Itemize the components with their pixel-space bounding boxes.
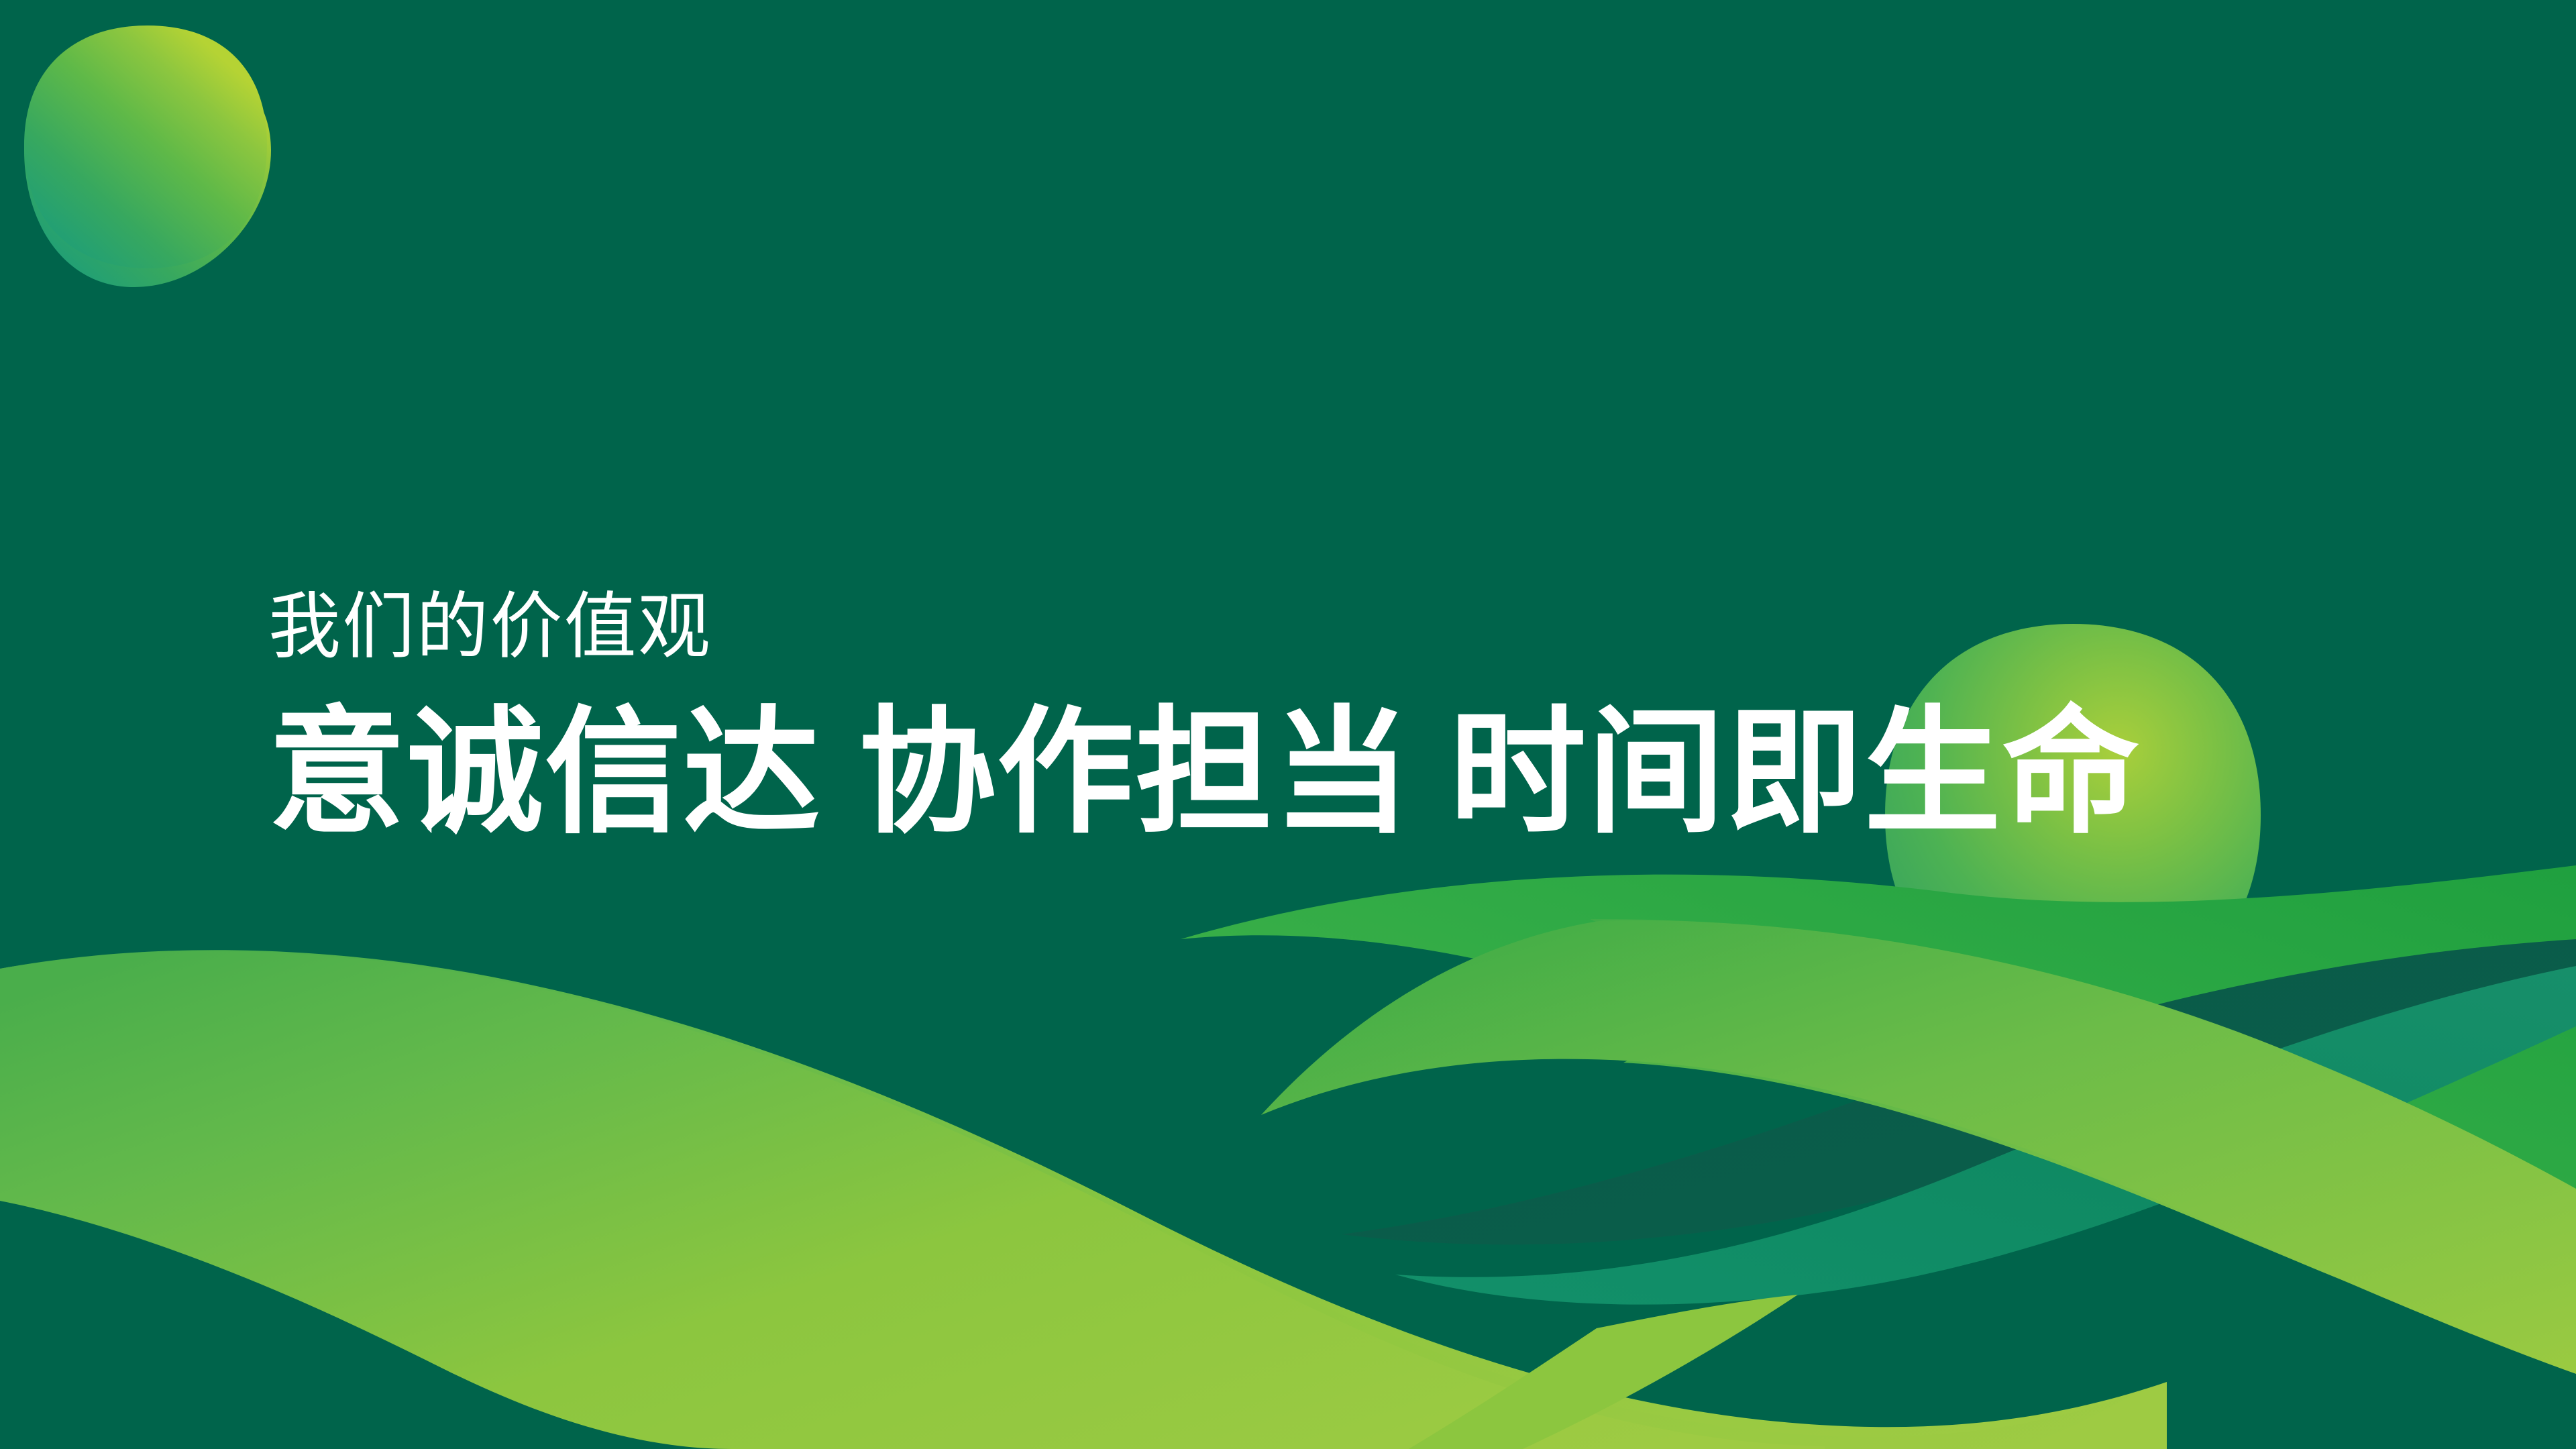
squircle-blob-fill [24,25,267,268]
slide-canvas: 我们的价值观 意诚信达协作担当时间即生命 [0,0,2576,1449]
headline-segment-1: 意诚信达 [268,696,821,849]
page-title: 意诚信达协作担当时间即生命 [268,704,2281,841]
eyebrow-text: 我们的价值观 [268,590,2281,663]
headline-segment-2: 协作担当 [859,696,1411,849]
text-block: 我们的价值观 意诚信达协作担当时间即生命 [268,590,2281,841]
headline-segment-3: 时间即生命 [1449,696,2140,849]
